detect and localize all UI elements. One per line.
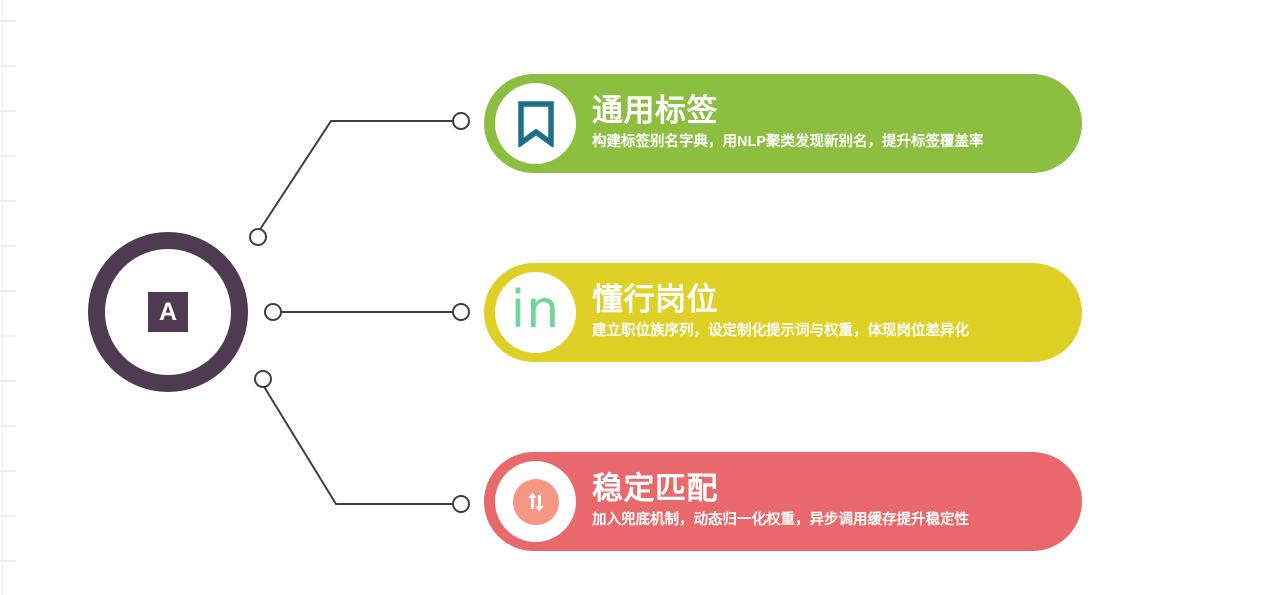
connector-node-card-top [453,113,469,129]
card-title: 通用标签 [592,94,984,129]
connector-bottom-path [263,385,454,504]
grid-dash [0,380,16,382]
hub-circle: A [88,232,248,392]
linkedin-in-icon: in [511,284,560,336]
card-subtitle: 加入兜底机制，动态归一化权重，异步调用缓存提升稳定性 [592,511,969,531]
grid-dash [0,200,16,202]
card-subtitle: 构建标签别名字典，用NLP聚类发现新别名，提升标签覆盖率 [592,133,984,153]
connector-node-hub-top [250,229,266,245]
hub-letter: A [159,300,177,325]
card-stable-match[interactable]: 稳定匹配 加入兜底机制，动态归一化权重，异步调用缓存提升稳定性 [484,452,1082,551]
grid-dash [0,290,16,292]
grid-dash [0,560,16,562]
grid-dash [0,155,16,157]
grid-dash [0,65,16,67]
card-title: 懂行岗位 [592,283,969,318]
card-text-industry-role: 懂行岗位 建立职位族序列，设定制化提示词与权重，体现岗位差异化 [592,283,983,341]
grid-dash [0,20,16,22]
card-subtitle: 建立职位族序列，设定制化提示词与权重，体现岗位差异化 [592,322,969,342]
swap-arrows-glyph [522,488,550,516]
bookmark-icon [516,101,556,147]
background-grid [0,0,20,595]
grid-vertical-line [2,0,3,595]
connector-node-hub-bottom [255,371,271,387]
grid-dash [0,110,16,112]
connector-top-path [259,121,454,231]
grid-dash [0,245,16,247]
card-industry-role[interactable]: in 懂行岗位 建立职位族序列，设定制化提示词与权重，体现岗位差异化 [484,263,1082,362]
icon-disc-universal-tag [495,83,576,164]
grid-dash [0,470,16,472]
icon-disc-industry-role: in [495,272,576,353]
card-universal-tag[interactable]: 通用标签 构建标签别名字典，用NLP聚类发现新别名，提升标签覆盖率 [484,74,1082,173]
connector-node-hub-mid [265,304,281,320]
hub-letter-badge: A [148,292,188,332]
card-text-stable-match: 稳定匹配 加入兜底机制，动态归一化权重，异步调用缓存提升稳定性 [592,472,983,530]
card-text-universal-tag: 通用标签 构建标签别名字典，用NLP聚类发现新别名，提升标签覆盖率 [592,94,998,152]
icon-disc-stable-match [495,461,576,542]
connector-node-card-mid [453,304,469,320]
grid-dash [0,335,16,337]
swap-arrows-icon [513,479,559,525]
grid-dash [0,425,16,427]
connector-node-card-bottom [453,496,469,512]
card-title: 稳定匹配 [592,472,969,507]
infographic-canvas: A 通用标签 构建标签别名字典，用NLP聚类发现新别名，提升标签覆盖率 in 懂… [0,0,1280,595]
grid-dash [0,515,16,517]
